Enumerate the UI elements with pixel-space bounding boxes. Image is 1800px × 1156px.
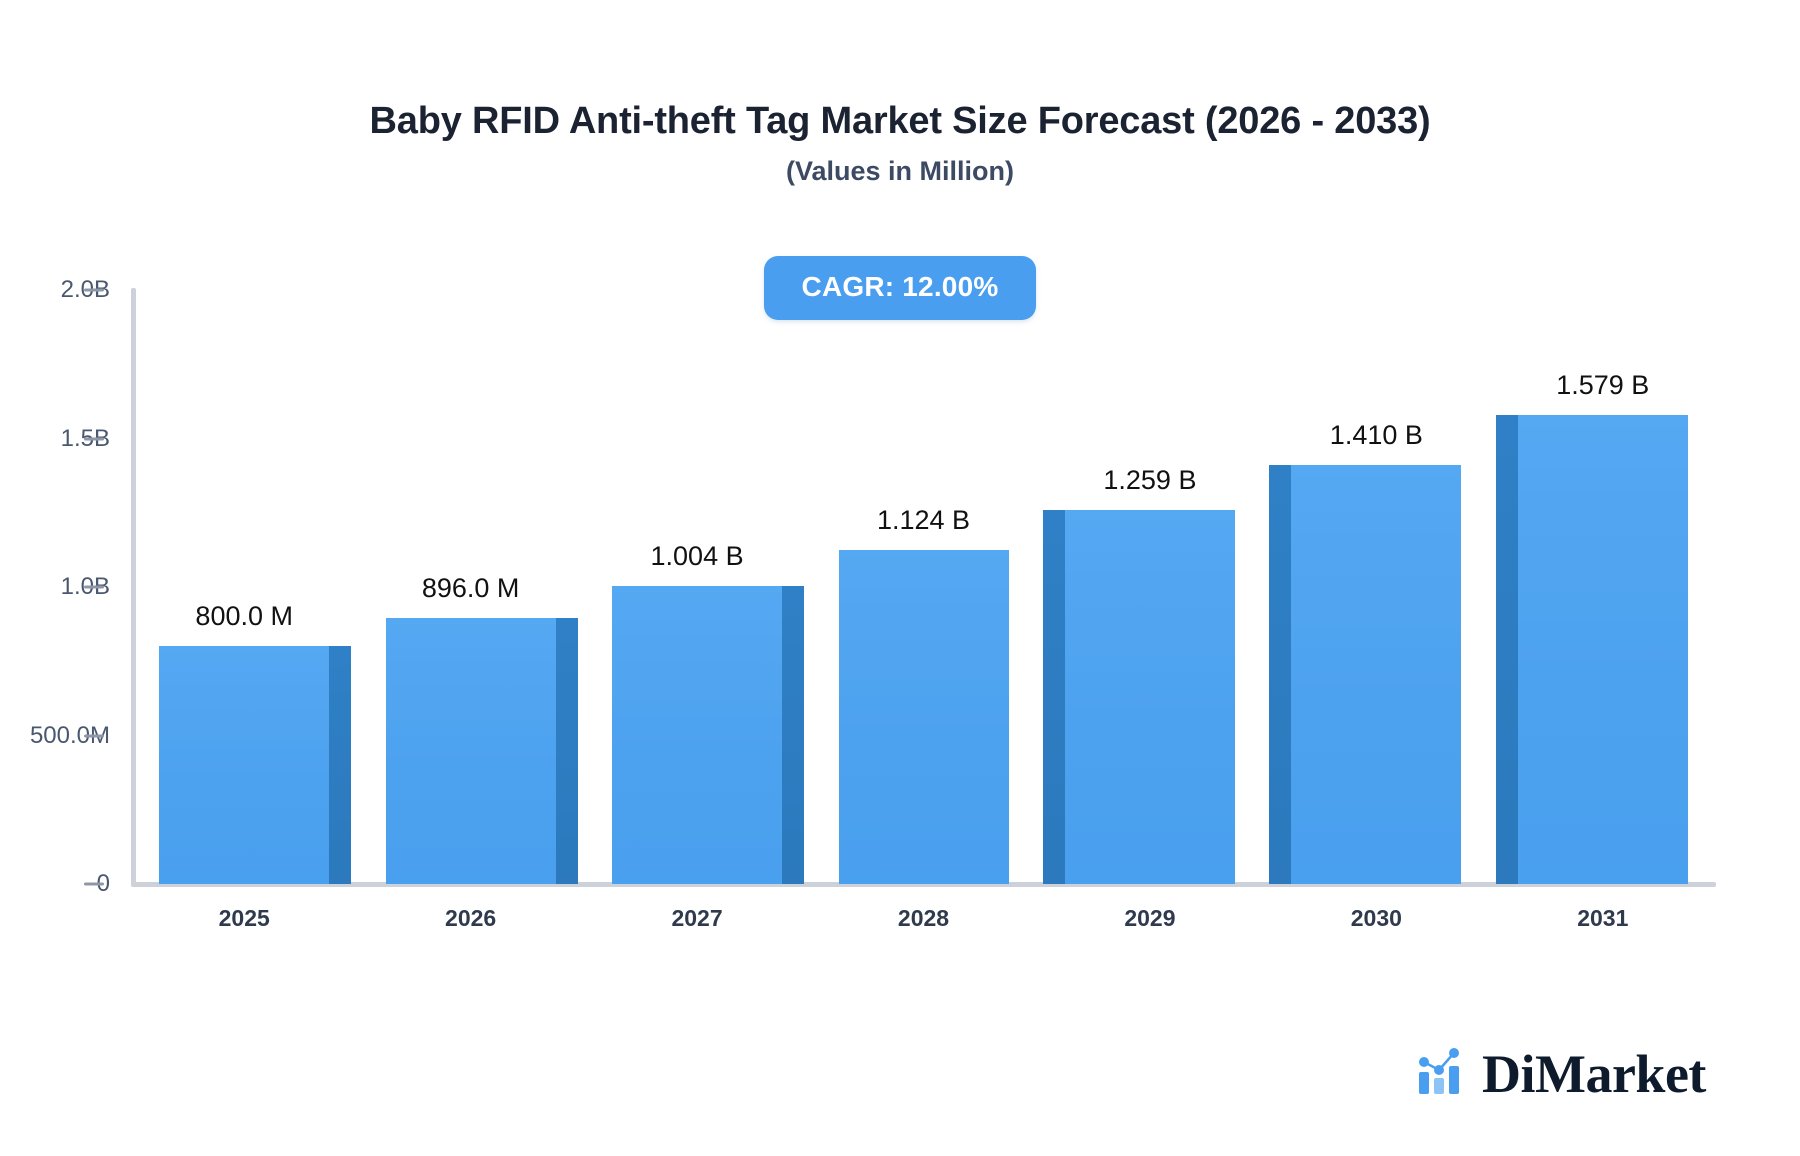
x-axis-label-2029: 2029	[1124, 905, 1175, 932]
bar-side-face	[1043, 510, 1065, 884]
bar-side-face	[556, 618, 578, 884]
bar-value-label: 1.124 B	[877, 505, 970, 536]
bar-front-face	[1291, 465, 1461, 884]
bar-value-label: 1.410 B	[1330, 420, 1423, 451]
bar-side-face	[1496, 415, 1518, 884]
x-axis-label-2026: 2026	[445, 905, 496, 932]
bar-side-face	[329, 646, 351, 884]
bar-value-label: 1.579 B	[1556, 370, 1649, 401]
bar-value-label: 896.0 M	[422, 573, 520, 604]
bar-side-face	[1269, 465, 1291, 884]
bar-front-face	[612, 586, 782, 884]
bar-value-label: 1.004 B	[651, 541, 744, 572]
x-axis-label-2030: 2030	[1351, 905, 1402, 932]
bar-2030[interactable]: 1.410 B	[1291, 465, 1461, 884]
bar-value-label: 800.0 M	[195, 601, 293, 632]
bar-value-label: 1.259 B	[1103, 465, 1196, 496]
bar-front-face	[159, 646, 329, 884]
bar-2028[interactable]: 1.124 B	[839, 550, 1009, 884]
bar-front-face	[839, 550, 1009, 884]
x-axis-label-2025: 2025	[219, 905, 270, 932]
bar-series: 800.0 M896.0 M1.004 B1.124 B1.259 B1.410…	[0, 0, 1800, 1156]
bar-2027[interactable]: 1.004 B	[612, 586, 782, 884]
bar-side-face	[782, 586, 804, 884]
chart-canvas: Baby RFID Anti-theft Tag Market Size For…	[0, 0, 1800, 1156]
bar-chart-logo-icon	[1418, 1046, 1470, 1101]
brand-logo: DiMarket	[1418, 1046, 1706, 1101]
logo-wordmark: DiMarket	[1482, 1047, 1706, 1101]
x-axis-label-2027: 2027	[671, 905, 722, 932]
x-axis-label-2031: 2031	[1577, 905, 1628, 932]
bar-front-face	[1518, 415, 1688, 884]
bar-front-face	[1065, 510, 1235, 884]
bar-2029[interactable]: 1.259 B	[1065, 510, 1235, 884]
x-axis-label-2028: 2028	[898, 905, 949, 932]
bar-2025[interactable]: 800.0 M	[159, 646, 329, 884]
bar-2031[interactable]: 1.579 B	[1518, 415, 1688, 884]
bar-front-face	[386, 618, 556, 884]
bar-2026[interactable]: 896.0 M	[386, 618, 556, 884]
